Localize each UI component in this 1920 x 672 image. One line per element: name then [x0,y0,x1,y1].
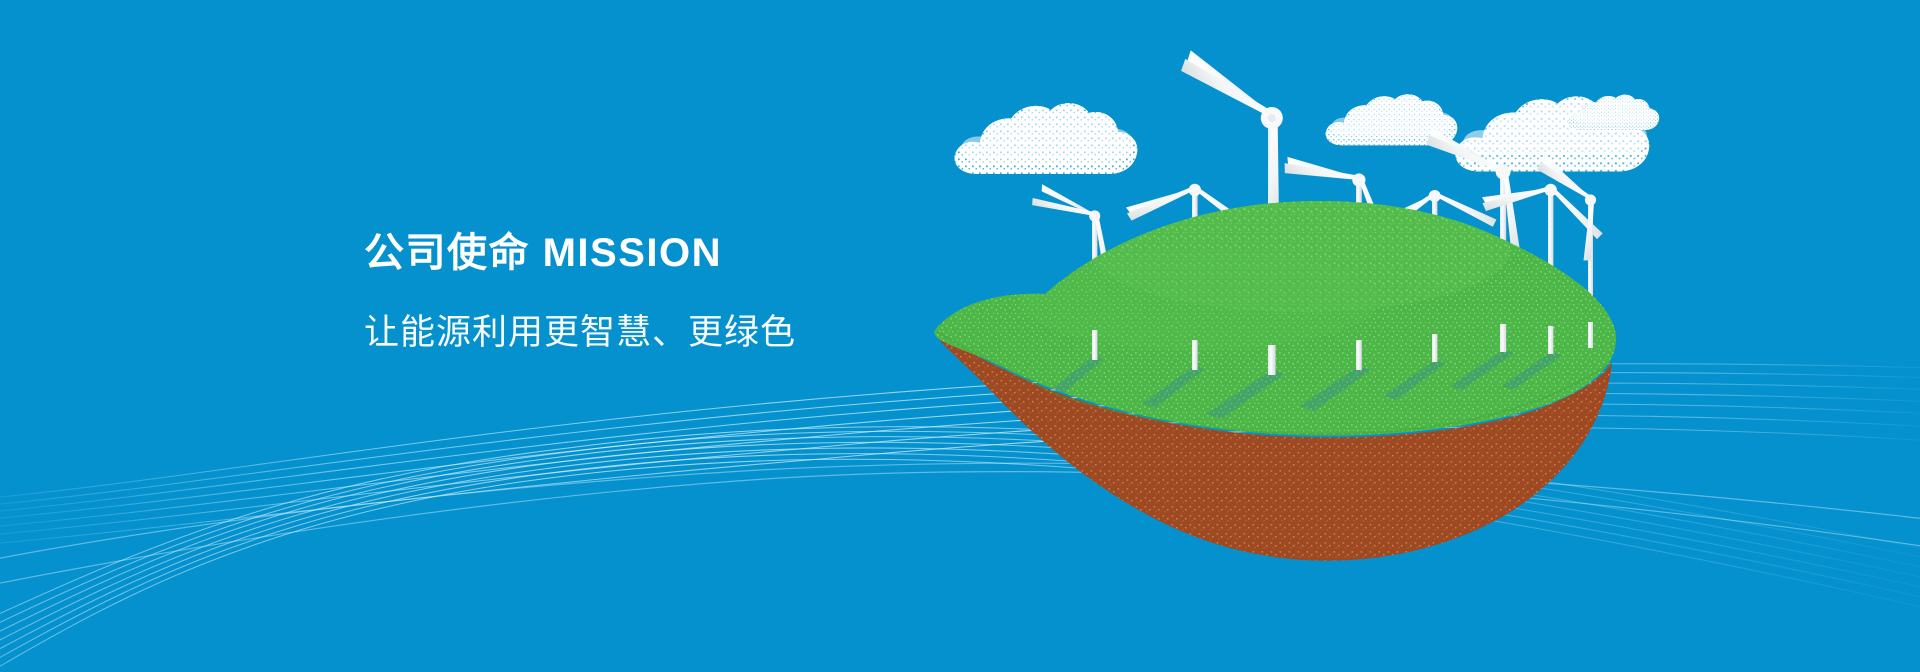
tower-base-2 [1192,340,1198,370]
cloud-group [955,94,1660,174]
mission-banner: 公司使命 MISSION 让能源利用更智慧、更绿色 [0,0,1920,672]
cloud-left [955,103,1138,174]
tower-base-5 [1432,334,1437,362]
tower-base-1 [1092,330,1097,360]
tower-base-7 [1548,326,1553,354]
tower-base-8 [1588,322,1593,348]
tower-base-6 [1500,324,1506,352]
tower-base-3 [1268,345,1276,375]
tower-base-4 [1356,340,1362,370]
mission-text-block: 公司使命 MISSION 让能源利用更智慧、更绿色 [364,232,1064,355]
page-subtitle: 让能源利用更智慧、更绿色 [364,304,1064,355]
page-title: 公司使命 MISSION [364,232,1064,274]
